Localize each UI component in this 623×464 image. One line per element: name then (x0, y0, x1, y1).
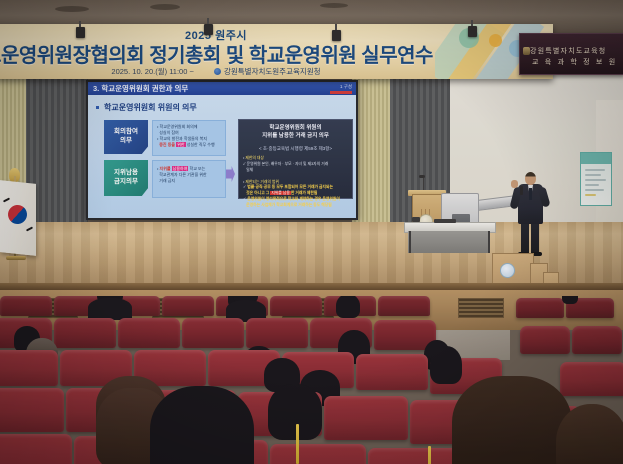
audience-member (430, 346, 462, 384)
seat (572, 326, 622, 354)
ceiling-vent (320, 3, 348, 8)
slide-arrow-icon (226, 166, 235, 182)
audience-seating (0, 296, 623, 464)
seat (520, 326, 570, 354)
seat (118, 318, 180, 348)
seat (270, 296, 322, 316)
speaker-tie (529, 188, 532, 200)
banner-line2: 교운영위원장협의회 정기총회 및 학교운영위원 실무연수 (0, 39, 436, 68)
seat (0, 350, 58, 386)
spotlight-lamp (332, 30, 341, 41)
audience-member (562, 296, 578, 304)
slide-bullet-heading: 학교운영위원회 위원의 의무 (104, 102, 197, 113)
spotlight-lamp (204, 24, 213, 35)
seat (324, 396, 408, 440)
seat (368, 448, 464, 464)
speaker-leg (521, 222, 529, 254)
stage-table-body (408, 231, 490, 253)
slide-right-panel: 학교운영위원회 위원의 지위를 남용한 거래 금지 의무 < 초·중등교육법 시… (238, 119, 353, 199)
sign-emblem-icon (523, 47, 530, 55)
projection-screen: 3. 학교운영위원회 권한과 의무 1 구성 학교운영위원회 위원의 의무 회의… (86, 80, 358, 220)
audience-member (336, 296, 360, 318)
table-object (412, 217, 420, 222)
stage-edge (0, 283, 623, 290)
speaker-leg (531, 222, 539, 254)
slide-note-abuse: • 지위를 남용하여 학교 또는 학교관계자 다른 기관을 위한 거래 금지 (152, 160, 226, 198)
audience-member (452, 376, 572, 464)
facility-name-sign: 강원특별자치도교육청 교 육 과 학 정 보 원 (519, 33, 623, 75)
table-object (434, 219, 456, 223)
banner-datetime: 2025. 10. 20.(월) 11:00 ~ (111, 67, 193, 76)
stairs-emblem-icon (500, 263, 515, 278)
slide-right-panel-body: • 제한의 대상 ✓ 운영위원 본인, 배우자 · 부모 · 자녀 및 제3자의… (243, 156, 349, 209)
seat (0, 388, 64, 432)
speaker-head (525, 172, 536, 185)
handheld-microphone-icon (520, 186, 523, 195)
ceiling-vent (150, 4, 180, 10)
drink-straw (296, 424, 299, 464)
banner-text: 2025 원주시 교운영위원장협의회 정기총회 및 학교운영위원 실무연수 20… (0, 24, 436, 79)
wall-poster (580, 152, 612, 206)
flag-stand-base (6, 256, 26, 260)
slide-title: 3. 학교운영위원회 권한과 의무 (88, 82, 356, 95)
banner-line3: 2025. 10. 20.(월) 11:00 ~ 강원특별자치도원주교육지원청 (0, 66, 436, 77)
seat (54, 318, 116, 348)
spotlight-lamp (468, 26, 477, 37)
seat (560, 362, 623, 396)
slide-tag: 1 구성 (340, 84, 352, 90)
slide-right-panel-title: 학교운영위원회 위원의 지위를 남용한 거래 금지 의무 (239, 124, 352, 141)
sign-line2: 교 육 과 학 정 보 원 (532, 57, 617, 67)
slide-right-panel-subtitle: < 초·중등교육법 시행령 제59조 제3항> (239, 146, 352, 152)
spotlight-lamp (76, 27, 85, 38)
seat (270, 444, 366, 464)
sign-line1: 강원특별자치도교육청 (530, 46, 606, 56)
seat (0, 296, 52, 316)
ceiling-vent (55, 6, 89, 12)
poster-header (581, 153, 611, 164)
speaker-hand (511, 180, 518, 188)
slide-tag-underline (330, 91, 352, 94)
banner-organizer: 강원특별자치도원주교육지원청 (214, 67, 321, 76)
audience-member (88, 298, 132, 320)
seat (246, 318, 308, 348)
presentation-slide: 3. 학교운영위원회 권한과 의무 1 구성 학교운영위원회 위원의 의무 회의… (88, 82, 356, 218)
slide-box-abuse-prohibition: 지위남용금지의무 (104, 160, 148, 196)
auditorium-photo: 3. 학교운영위원회 권한과 의무 1 구성 학교운영위원회 위원의 의무 회의… (0, 0, 623, 464)
seat (516, 298, 564, 318)
audience-member (268, 384, 322, 440)
seat (162, 296, 214, 316)
podium-microphone-icon (419, 175, 425, 178)
seat (182, 318, 244, 348)
seat (378, 296, 430, 316)
slide-box-meeting-duty: 회의참여의무 (104, 120, 148, 154)
drink-straw (428, 446, 431, 464)
seat (356, 354, 428, 390)
seat (0, 434, 72, 464)
slide-note-meeting: • 학교운영위원회 회의에 성실히 참여• 학교의 발전과 학생들의 복지 증진… (152, 120, 226, 156)
audience-member (150, 386, 254, 464)
